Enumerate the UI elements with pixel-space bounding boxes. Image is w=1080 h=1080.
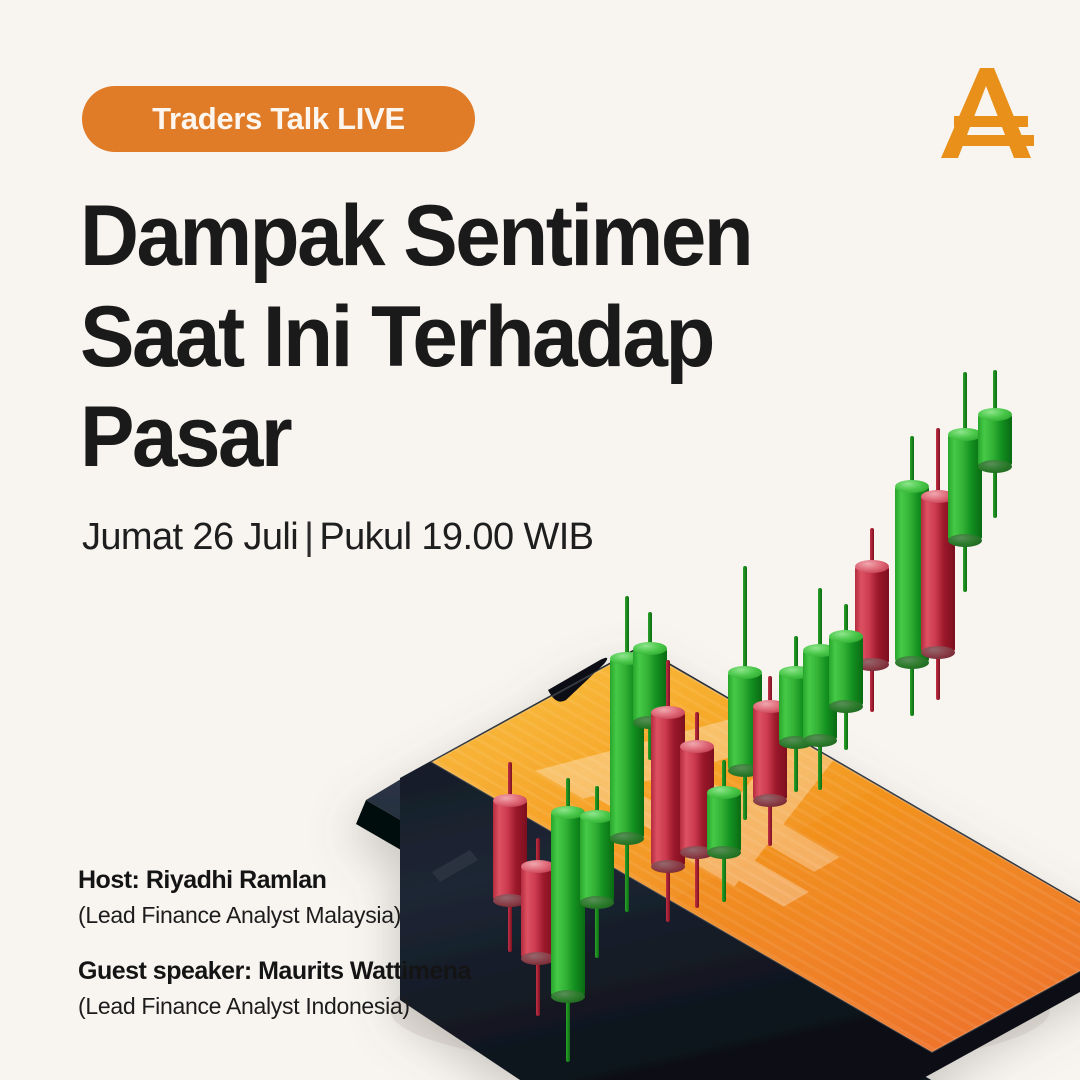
candle-base-cap bbox=[829, 700, 863, 713]
live-badge[interactable]: Traders Talk LIVE bbox=[82, 86, 475, 152]
candlestick-up bbox=[978, 357, 1012, 518]
page-title: Dampak Sentimen Saat Ini Terhadap Pasar bbox=[80, 186, 800, 488]
candle-base-cap bbox=[978, 460, 1012, 473]
candle-top-cap bbox=[829, 630, 863, 643]
candle-base-cap bbox=[707, 846, 741, 859]
schedule-date: Jumat 26 Juli bbox=[82, 516, 298, 558]
candle-base-cap bbox=[921, 646, 955, 659]
candle-base-cap bbox=[551, 990, 585, 1003]
brand-logo-icon bbox=[930, 58, 1042, 170]
headline-line-1: Dampak Sentimen bbox=[80, 186, 764, 287]
candle-top-cap bbox=[855, 560, 889, 573]
candlestick-up bbox=[580, 773, 614, 958]
speaker-guest: Guest speaker: Maurits Wattimena (Lead F… bbox=[78, 957, 471, 1020]
candle-body bbox=[978, 414, 1012, 466]
candle-top-cap bbox=[948, 428, 982, 441]
candle-base-cap bbox=[610, 832, 644, 845]
headline-line-3: Pasar bbox=[80, 387, 764, 488]
poster-canvas: Traders Talk LIVE Dampak Sentimen Saat I… bbox=[0, 0, 1080, 1080]
candle-base-cap bbox=[753, 794, 787, 807]
live-badge-label: Traders Talk LIVE bbox=[152, 101, 405, 137]
speaker-host-role: (Lead Finance Analyst Malaysia) bbox=[78, 902, 471, 929]
candle-body bbox=[829, 636, 863, 706]
candle-base-cap bbox=[948, 534, 982, 547]
candle-body bbox=[948, 434, 982, 540]
speaker-host: Host: Riyadhi Ramlan (Lead Finance Analy… bbox=[78, 866, 471, 929]
speaker-host-name: Host: Riyadhi Ramlan bbox=[78, 866, 471, 895]
candlestick-up bbox=[829, 591, 863, 750]
candle-top-cap bbox=[493, 794, 527, 807]
speaker-guest-name: Guest speaker: Maurits Wattimena bbox=[78, 957, 471, 986]
candle-base-cap bbox=[521, 952, 555, 965]
speaker-list: Host: Riyadhi Ramlan (Lead Finance Analy… bbox=[78, 866, 471, 1020]
candlestick-up bbox=[948, 359, 982, 592]
speaker-guest-role: (Lead Finance Analyst Indonesia) bbox=[78, 993, 471, 1020]
schedule-line: Jumat 26 Juli|Pukul 19.00 WIB bbox=[82, 516, 593, 559]
candlestick-down bbox=[521, 825, 555, 1016]
schedule-time: Pukul 19.00 WIB bbox=[319, 516, 593, 558]
candle-top-cap bbox=[978, 408, 1012, 421]
candle-body bbox=[521, 866, 555, 958]
schedule-separator: | bbox=[298, 516, 319, 559]
candle-top-cap bbox=[580, 810, 614, 823]
candle-base-cap bbox=[580, 896, 614, 909]
candle-top-cap bbox=[521, 860, 555, 873]
headline-line-2: Saat Ini Terhadap bbox=[80, 287, 764, 388]
candle-body bbox=[580, 816, 614, 902]
